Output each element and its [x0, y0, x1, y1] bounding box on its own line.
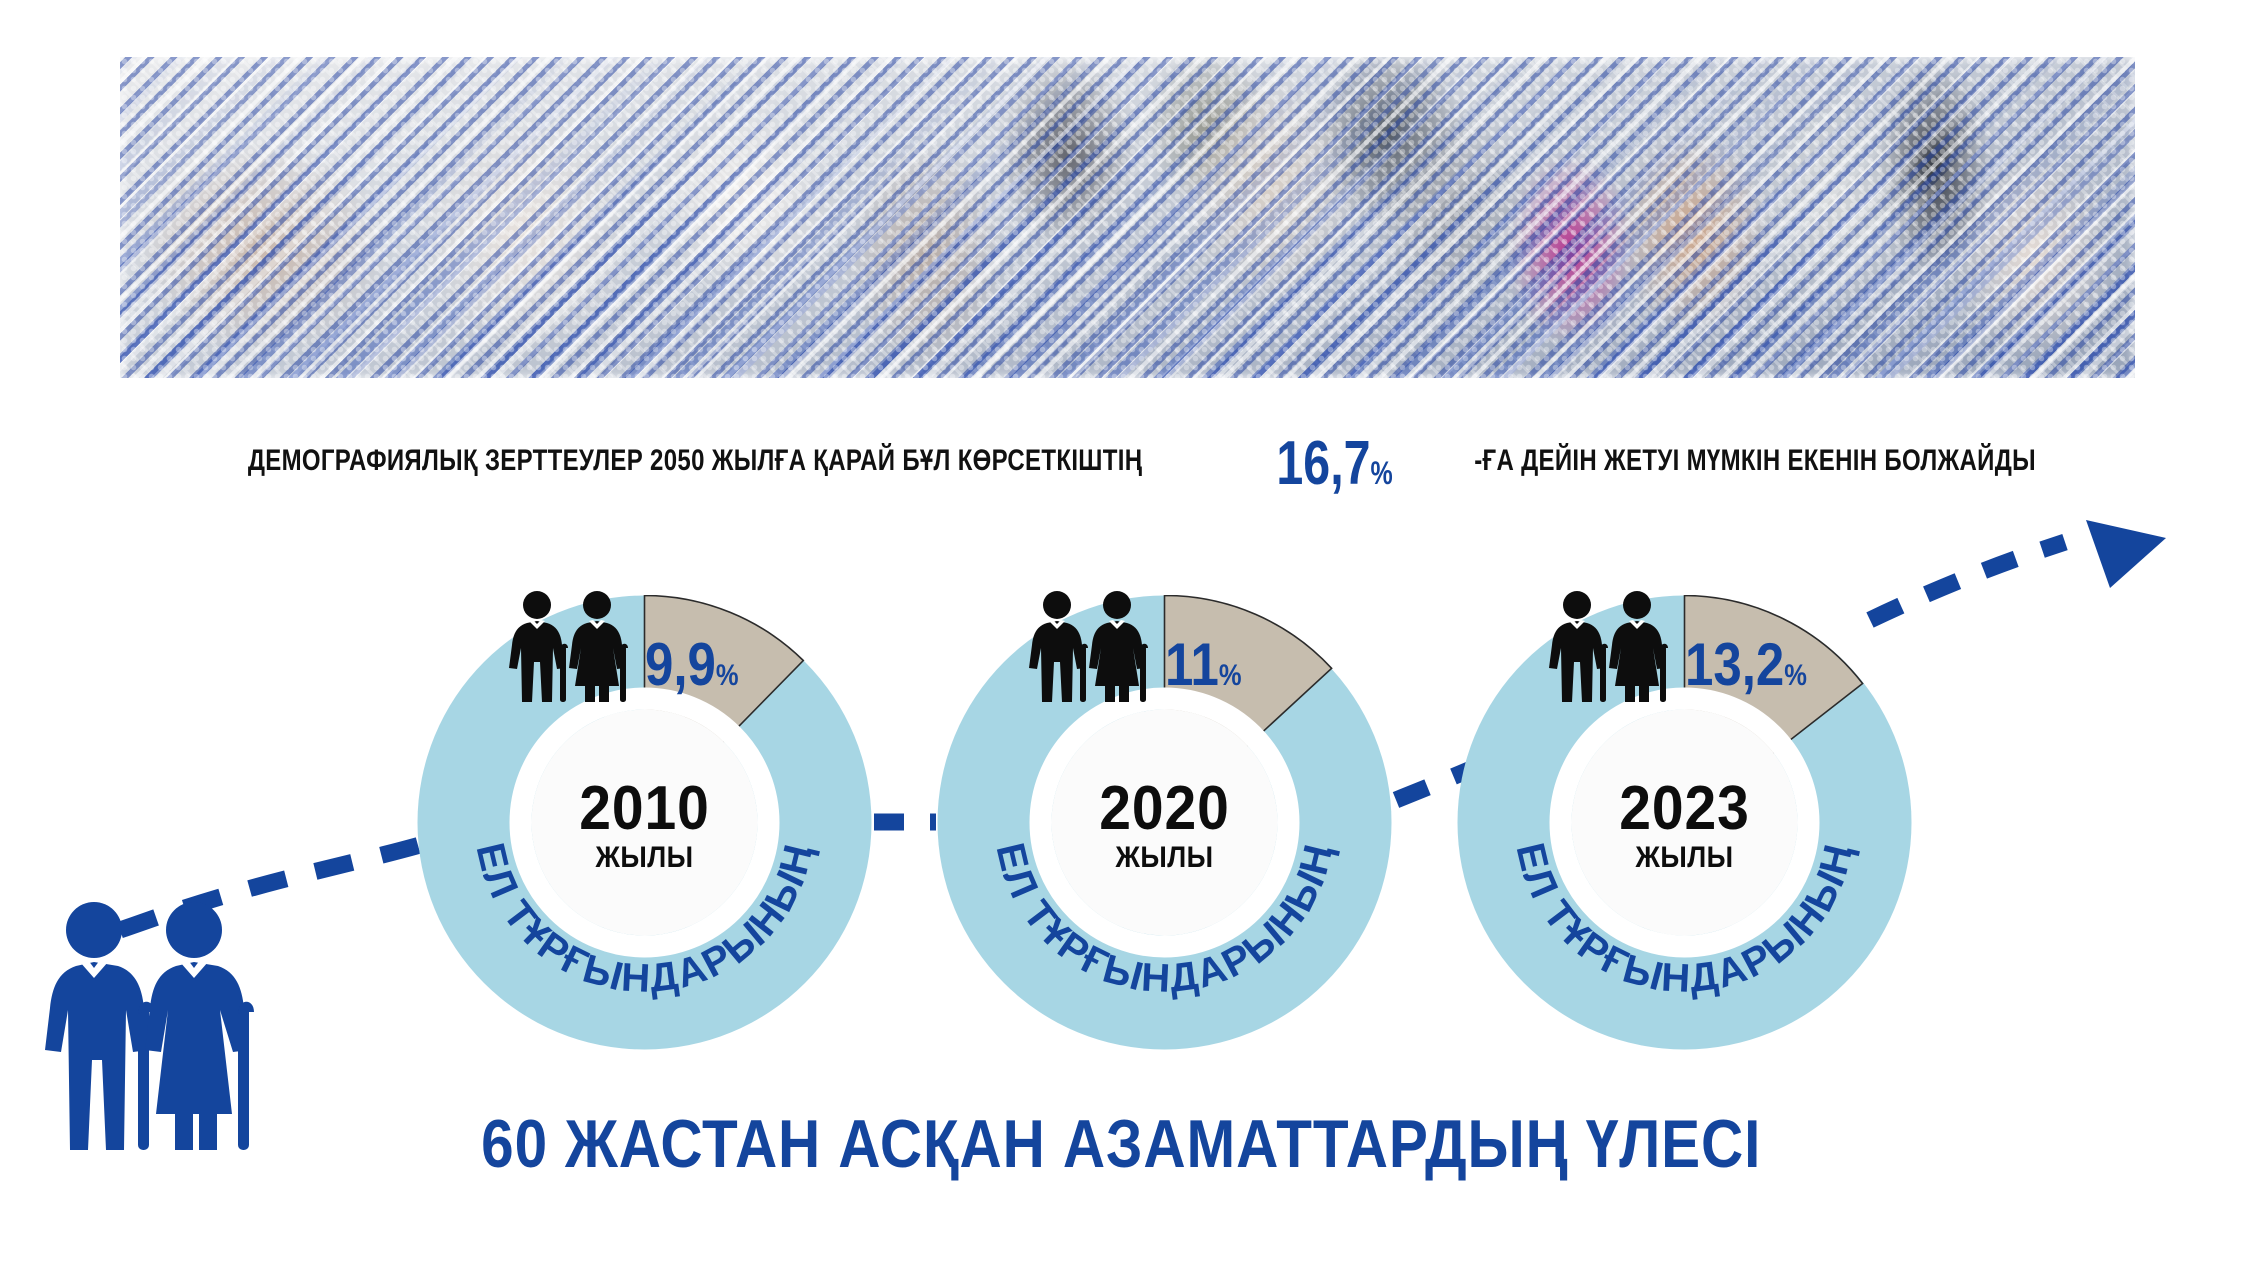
- percent-sign-icon: %: [1784, 659, 1807, 692]
- donut-percent-value-2010: 9,9: [645, 631, 716, 698]
- donut-year-2010: 2010: [435, 773, 854, 844]
- donut-percent-label-2023: 13,2%: [1685, 635, 1838, 695]
- donut-year-suffix-2020: ЖЫЛЫ: [960, 841, 1370, 875]
- percent-sign-icon: %: [1370, 455, 1392, 491]
- donut-chart-2023: ЕЛ ТҰРҒЫНДАРЫНЫҢ 13,2% 2023 ЖЫЛЫ: [1457, 595, 1912, 1050]
- donut-year-suffix-2010: ЖЫЛЫ: [440, 841, 850, 875]
- headline: ДЕМОГРАФИЯЛЫҚ ЗЕРТТЕУЛЕР 2050 ЖЫЛҒА ҚАРА…: [0, 425, 2242, 496]
- donut-percent-value-2020: 11: [1165, 631, 1219, 698]
- donut-year-suffix-2023: ЖЫЛЫ: [1480, 841, 1890, 875]
- headline-part1: ДЕМОГРАФИЯЛЫҚ ЗЕРТТЕУЛЕР 2050 ЖЫЛҒА ҚАРА…: [248, 444, 1143, 478]
- donut-percent-label-2010: 9,9%: [645, 635, 798, 695]
- elderly-couple-icon-black: [505, 590, 645, 702]
- headline-part2: -ҒА ДЕЙІН ЖЕТУІ МҮМКІН ЕКЕНІН БОЛЖАЙДЫ: [1474, 444, 2036, 478]
- donut-chart-2010: ЕЛ ТҰРҒЫНДАРЫНЫҢ 9,9% 2010 ЖЫЛЫ: [417, 595, 872, 1050]
- arrow-head-icon: [2086, 520, 2166, 588]
- bottom-caption-text: 60 ЖАСТАН АСҚАН АЗАМАТТАРДЫҢ ҮЛЕСІ: [481, 1105, 1761, 1183]
- photo-dot-texture: [120, 57, 2135, 378]
- bottom-caption: 60 ЖАСТАН АСҚАН АЗАМАТТАРДЫҢ ҮЛЕСІ: [0, 1105, 2242, 1183]
- donut-percent-value-2023: 13,2: [1685, 631, 1784, 698]
- elderly-couple-icon-black: [1025, 590, 1165, 702]
- photo-banner: [120, 57, 2135, 378]
- percent-sign-icon: %: [1219, 659, 1242, 692]
- headline-highlight-number: 16,7: [1276, 429, 1370, 498]
- donut-year-2023: 2023: [1475, 773, 1894, 844]
- elderly-couple-icon-black: [1545, 590, 1685, 702]
- donut-percent-label-2020: 11%: [1165, 635, 1318, 695]
- headline-highlight-value: 16,7%: [1276, 428, 1392, 499]
- donut-chart-2020: ЕЛ ТҰРҒЫНДАРЫНЫҢ 11% 2020 ЖЫЛЫ: [937, 595, 1392, 1050]
- percent-sign-icon: %: [716, 659, 739, 692]
- donut-year-2020: 2020: [955, 773, 1374, 844]
